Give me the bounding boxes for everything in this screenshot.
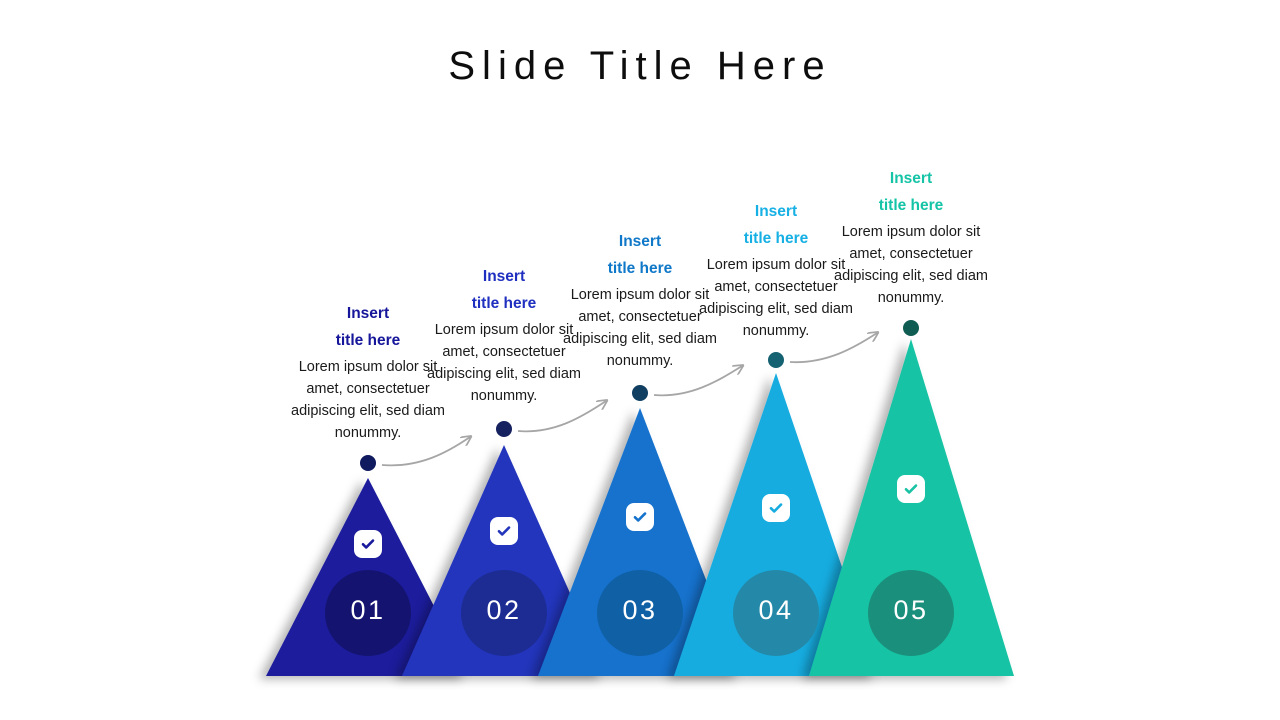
step-number-label: 05 (871, 595, 951, 626)
check-badge[interactable] (626, 503, 654, 531)
step-text-column: Insert title hereLorem ipsum dolor sit a… (827, 166, 995, 309)
step-title[interactable]: Insert title here (827, 166, 995, 219)
pyramid-infographic: Insert title hereLorem ipsum dolor sit a… (0, 0, 1280, 720)
check-icon (496, 523, 512, 539)
check-badge[interactable] (490, 517, 518, 545)
connector-dot (903, 320, 919, 336)
check-icon (632, 509, 648, 525)
check-icon (360, 536, 376, 552)
step-triangle[interactable] (402, 445, 607, 676)
step-triangle[interactable] (538, 408, 743, 676)
check-icon (768, 500, 784, 516)
step-number-label: 03 (600, 595, 680, 626)
step-triangle[interactable] (266, 478, 470, 676)
connector-dot (496, 421, 512, 437)
check-badge[interactable] (762, 494, 790, 522)
check-badge[interactable] (897, 475, 925, 503)
check-badge[interactable] (354, 530, 382, 558)
step-triangle[interactable] (674, 373, 879, 676)
connector-dot (360, 455, 376, 471)
check-icon (903, 481, 919, 497)
step-number-label: 02 (464, 595, 544, 626)
connector-dot (632, 385, 648, 401)
step-number-label: 01 (328, 595, 408, 626)
step-number-label: 04 (736, 595, 816, 626)
slide-canvas: Slide Title Here Insert title hereLorem … (0, 0, 1280, 720)
connector-dot (768, 352, 784, 368)
step-body-text[interactable]: Lorem ipsum dolor sit amet, consectetuer… (827, 222, 995, 309)
